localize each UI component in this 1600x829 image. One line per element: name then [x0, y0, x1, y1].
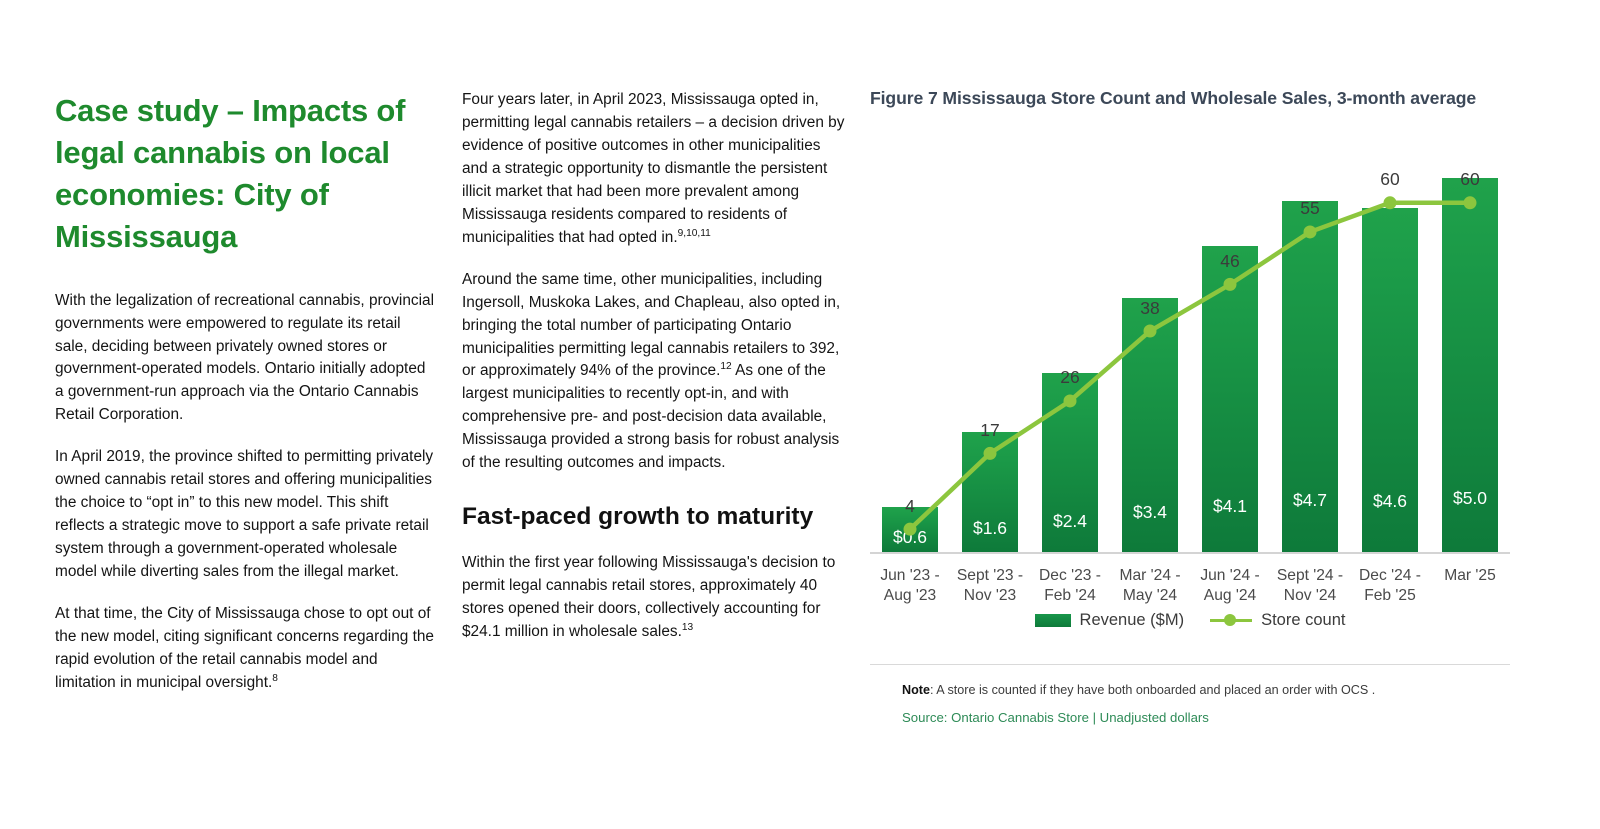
legend-label: Revenue ($M): [1080, 611, 1185, 630]
paragraph-text: At that time, the City of Mississauga ch…: [55, 605, 434, 691]
paragraph: Four years later, in April 2023, Mississ…: [462, 89, 846, 250]
paragraph-text: Four years later, in April 2023, Mississ…: [462, 91, 844, 246]
line-marker[interactable]: [1304, 225, 1317, 238]
column-three-figure: Figure 7 Mississauga Store Count and Who…: [870, 0, 1520, 554]
legend-line-swatch-icon: [1210, 614, 1252, 626]
footnote-marker: 13: [682, 622, 693, 633]
chart-plot-area: $0.64Jun '23 -Aug '23$1.617Sept '23 -Nov…: [870, 134, 1510, 554]
x-axis-tick-label: Mar '24 -May '24: [1119, 566, 1180, 607]
x-axis-tick-line: Dec '23 -: [1039, 566, 1101, 587]
column-two: Four years later, in April 2023, Mississ…: [462, 0, 846, 663]
x-axis-tick-line: Aug '23: [880, 586, 939, 607]
x-axis-tick-line: Feb '25: [1359, 586, 1421, 607]
x-axis-tick-label: Jun '23 -Aug '23: [880, 566, 939, 607]
footnote-marker: 8: [272, 673, 278, 684]
section-heading: Fast-paced growth to maturity: [462, 501, 846, 534]
paragraph-text: In April 2019, the province shifted to p…: [55, 448, 433, 580]
x-axis-tick-line: Mar '25: [1444, 566, 1496, 587]
line-marker[interactable]: [1384, 196, 1397, 209]
x-axis-tick-line: Mar '24 -: [1119, 566, 1180, 587]
figure-title: Figure 7 Mississauga Store Count and Who…: [870, 86, 1510, 112]
paragraph: Around the same time, other municipaliti…: [462, 269, 846, 476]
paragraph: Within the first year following Mississa…: [462, 552, 846, 644]
page-title: Case study – Impacts of legal cannabis o…: [55, 90, 437, 259]
x-axis-tick-line: Sept '24 -: [1277, 566, 1343, 587]
figure-divider: [870, 664, 1510, 665]
x-axis-tick-line: Aug '24: [1200, 586, 1259, 607]
legend-bar-swatch-icon: [1035, 614, 1071, 627]
x-axis-tick-line: Jun '23 -: [880, 566, 939, 587]
legend-label: Store count: [1261, 611, 1345, 630]
x-axis-tick-label: Mar '25: [1444, 566, 1496, 587]
figure-note-text: : A store is counted if they have both o…: [930, 683, 1375, 697]
line-marker[interactable]: [1464, 196, 1477, 209]
paragraph-text: Within the first year following Mississa…: [462, 554, 835, 640]
x-axis-tick-line: Feb '24: [1039, 586, 1101, 607]
x-axis-tick-line: Nov '24: [1277, 586, 1343, 607]
paragraph: In April 2019, the province shifted to p…: [55, 446, 437, 584]
column-one: Case study – Impacts of legal cannabis o…: [55, 0, 437, 714]
chart-combo-bar-line: $0.64Jun '23 -Aug '23$1.617Sept '23 -Nov…: [870, 134, 1510, 554]
x-axis-tick-line: Jun '24 -: [1200, 566, 1259, 587]
x-axis-tick-label: Dec '23 -Feb '24: [1039, 566, 1101, 607]
line-marker[interactable]: [1144, 324, 1157, 337]
paragraph: With the legalization of recreational ca…: [55, 290, 437, 428]
footnote-marker: 12: [720, 361, 731, 372]
x-axis-tick-label: Jun '24 -Aug '24: [1200, 566, 1259, 607]
figure-source: Source: Ontario Cannabis Store | Unadjus…: [902, 710, 1209, 725]
x-axis-tick-line: Dec '24 -: [1359, 566, 1421, 587]
x-axis-tick-label: Sept '24 -Nov '24: [1277, 566, 1343, 607]
legend-item-store-count[interactable]: Store count: [1210, 611, 1345, 630]
document-page: Case study – Impacts of legal cannabis o…: [0, 0, 1600, 829]
line-marker[interactable]: [984, 446, 997, 459]
legend-item-revenue[interactable]: Revenue ($M): [1035, 611, 1185, 630]
line-path: [910, 202, 1470, 528]
line-marker[interactable]: [1224, 277, 1237, 290]
line-marker[interactable]: [904, 522, 917, 535]
chart-legend: Revenue ($M) Store count: [870, 611, 1510, 630]
x-axis-tick-line: Nov '23: [957, 586, 1023, 607]
figure-note: Note: A store is counted if they have bo…: [902, 683, 1375, 697]
paragraph-text: With the legalization of recreational ca…: [55, 292, 434, 424]
store-count-line-series: [870, 134, 1510, 554]
footnote-marker: 9,10,11: [678, 228, 711, 239]
paragraph: At that time, the City of Mississauga ch…: [55, 603, 437, 695]
line-marker[interactable]: [1064, 394, 1077, 407]
x-axis-tick-line: May '24: [1119, 586, 1180, 607]
x-axis-tick-label: Sept '23 -Nov '23: [957, 566, 1023, 607]
x-axis-tick-label: Dec '24 -Feb '25: [1359, 566, 1421, 607]
x-axis-tick-line: Sept '23 -: [957, 566, 1023, 587]
figure-note-label: Note: [902, 683, 930, 697]
